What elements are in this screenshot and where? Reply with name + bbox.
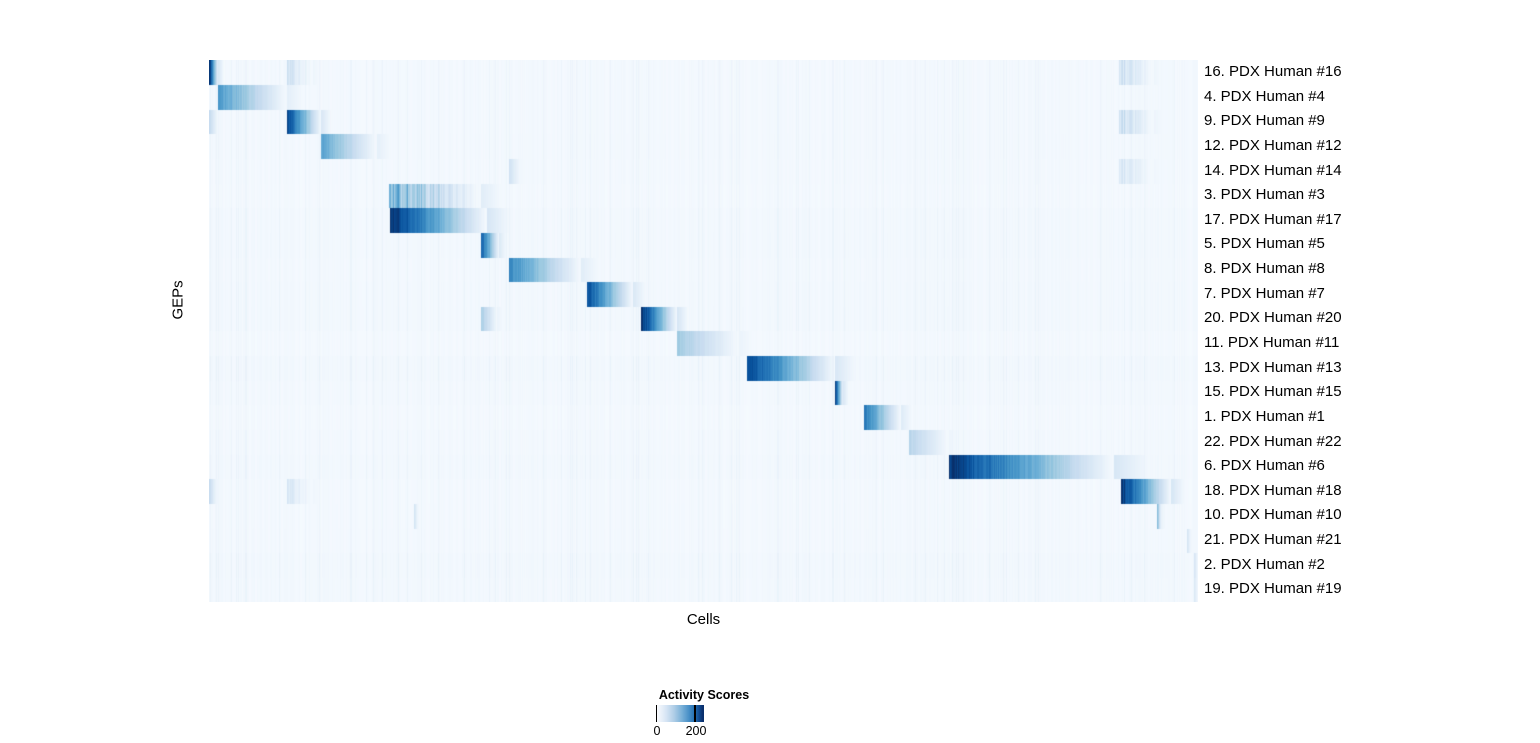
row-label: 10. PDX Human #10 [1204, 503, 1342, 528]
row-label: 5. PDX Human #5 [1204, 232, 1325, 257]
row-label: 16. PDX Human #16 [1204, 60, 1342, 85]
row-label: 12. PDX Human #12 [1204, 134, 1342, 159]
colorbar-title: Activity Scores [608, 688, 800, 702]
row-label: 8. PDX Human #8 [1204, 257, 1325, 282]
colorbar-tick-0 [656, 705, 657, 722]
row-label: 13. PDX Human #13 [1204, 356, 1342, 381]
row-label: 14. PDX Human #14 [1204, 159, 1342, 184]
row-label: 18. PDX Human #18 [1204, 479, 1342, 504]
row-label: 17. PDX Human #17 [1204, 208, 1342, 233]
row-label: 19. PDX Human #19 [1204, 577, 1342, 602]
y-axis-title: GEPs [170, 290, 187, 320]
heatmap-plot-area [209, 60, 1198, 602]
heatmap-canvas [209, 60, 1198, 602]
heatmap-figure: GEPs Cells 16. PDX Human #164. PDX Human… [0, 0, 1540, 743]
row-label: 6. PDX Human #6 [1204, 454, 1325, 479]
row-label-list: 16. PDX Human #164. PDX Human #49. PDX H… [1204, 60, 1504, 602]
colorbar-tick-200 [694, 705, 695, 722]
row-label: 1. PDX Human #1 [1204, 405, 1325, 430]
row-label: 3. PDX Human #3 [1204, 183, 1325, 208]
row-label: 11. PDX Human #11 [1204, 331, 1339, 356]
row-label: 2. PDX Human #2 [1204, 553, 1325, 578]
row-label: 7. PDX Human #7 [1204, 282, 1325, 307]
colorbar-legend: Activity Scores 0 200 [608, 688, 808, 743]
row-label: 20. PDX Human #20 [1204, 306, 1342, 331]
colorbar-gradient [656, 705, 704, 722]
x-axis-title: Cells [209, 611, 1198, 628]
row-label: 9. PDX Human #9 [1204, 109, 1325, 134]
colorbar-tick-label-200: 200 [686, 724, 707, 738]
row-label: 15. PDX Human #15 [1204, 380, 1342, 405]
colorbar-tick-label-0: 0 [654, 724, 661, 738]
row-label: 21. PDX Human #21 [1204, 528, 1342, 553]
row-label: 4. PDX Human #4 [1204, 85, 1325, 110]
row-label: 22. PDX Human #22 [1204, 430, 1342, 455]
